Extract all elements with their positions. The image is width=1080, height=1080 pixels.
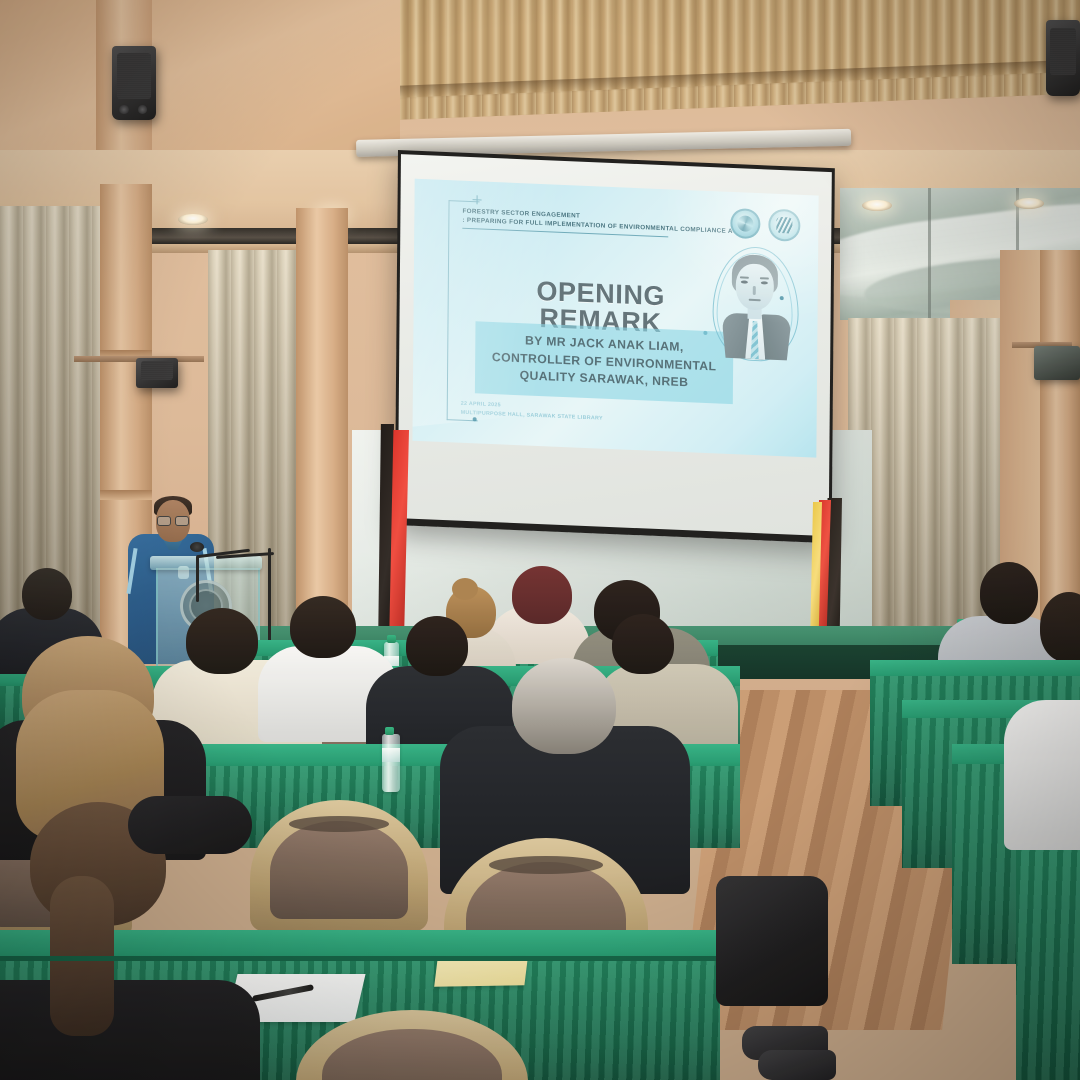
speaker-driver xyxy=(119,105,129,114)
attendee-head xyxy=(22,568,72,620)
attendee-head xyxy=(512,658,616,754)
attendee-head xyxy=(612,614,674,674)
speaker-grille xyxy=(117,53,150,99)
water-bottle xyxy=(382,734,400,792)
shoe xyxy=(758,1050,836,1080)
slide-tick-dot xyxy=(473,417,477,421)
bottle-cap xyxy=(385,727,394,735)
attendee-shoulders xyxy=(1004,700,1080,850)
attendee-head xyxy=(290,596,356,658)
slide-footnote: 22 APRIL 2025 MULTIPURPOSE HALL, SARAWAK… xyxy=(461,400,671,426)
presentation-slide: FORESTRY SECTOR ENGAGEMENT : PREPARING F… xyxy=(412,179,818,458)
column-speaker-left xyxy=(136,358,178,388)
slide-byline-box: BY MR JACK ANAK LIAM, CONTROLLER OF ENVI… xyxy=(475,321,734,403)
chair-back-slot xyxy=(489,856,603,874)
flag-left xyxy=(378,424,412,652)
eyeglasses-icon xyxy=(157,516,189,524)
attendee-arm-dark xyxy=(128,796,252,854)
speaker-grille xyxy=(141,361,173,380)
ceiling-downlight xyxy=(178,214,208,225)
ceiling-projector-right xyxy=(1034,346,1080,380)
wall-speaker-top-left xyxy=(112,46,156,120)
screen-surface: FORESTRY SECTOR ENGAGEMENT : PREPARING F… xyxy=(398,154,832,536)
column-band xyxy=(100,490,152,500)
table-edge-highlight xyxy=(0,956,720,961)
podium-top-shelf xyxy=(150,556,262,570)
ceiling-downlight xyxy=(1014,198,1044,209)
chair-back-slot xyxy=(289,816,389,832)
bottle-cap xyxy=(387,635,396,643)
slide-tick-mark xyxy=(477,195,478,204)
attendee-hair-bun xyxy=(452,578,478,600)
projection-screen: FORESTRY SECTOR ENGAGEMENT : PREPARING F… xyxy=(395,150,835,543)
ceiling-downlight xyxy=(862,200,892,211)
banquet-chair xyxy=(296,1010,528,1080)
bottle-label xyxy=(382,748,400,762)
glass-mullion xyxy=(928,188,931,320)
attendee-head xyxy=(186,608,258,674)
screen-glare xyxy=(656,179,819,328)
microphone-stand-1 xyxy=(196,556,199,602)
yellow-handout-card xyxy=(434,957,528,987)
attendee-shoulders xyxy=(0,980,260,1080)
conference-hall-photo: FORESTRY SECTOR ENGAGEMENT : PREPARING F… xyxy=(0,0,1080,1080)
attendee-head xyxy=(980,562,1038,624)
attendee-head xyxy=(406,616,468,676)
microphone-head-1 xyxy=(190,542,204,552)
speaker-driver xyxy=(138,105,148,114)
speaker-grille xyxy=(1050,28,1076,75)
wall-speaker-top-right xyxy=(1046,20,1080,96)
attendee-head xyxy=(512,566,572,624)
table-right-4-skirt xyxy=(1016,830,1080,1080)
chair-cushion xyxy=(270,821,409,919)
banquet-chair xyxy=(250,800,428,932)
backpack-on-floor xyxy=(716,876,828,1006)
